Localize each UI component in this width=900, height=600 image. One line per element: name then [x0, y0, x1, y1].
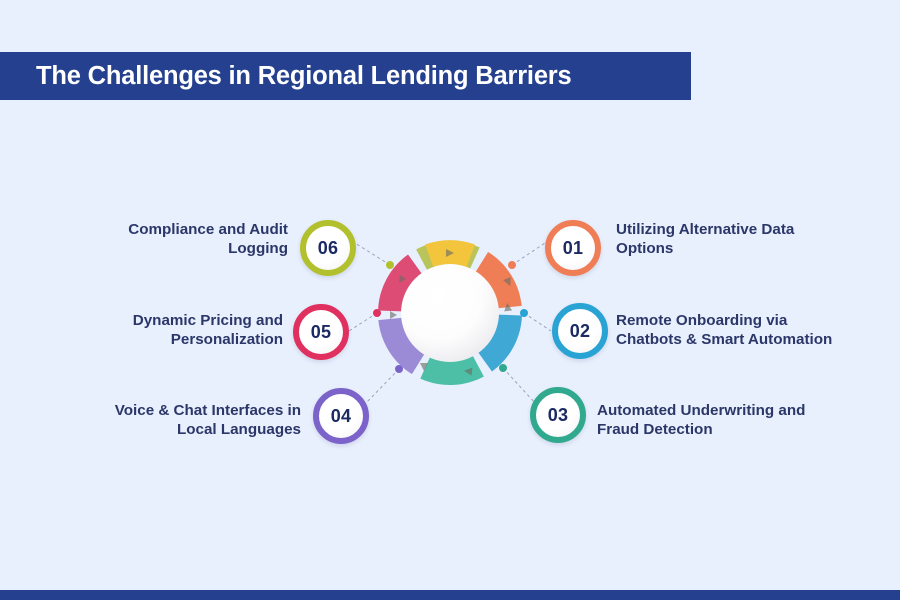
step-label-02: Remote Onboarding via Chatbots & Smart A… [616, 311, 886, 349]
step-circle-02[interactable]: 02 [552, 303, 608, 359]
step-number-06: 06 [318, 238, 339, 259]
step-number-04: 04 [331, 406, 352, 427]
connector-line-04 [365, 369, 399, 404]
step-label-06-line1: Compliance and Audit [35, 220, 288, 239]
step-label-01-line1: Utilizing Alternative Data [616, 220, 881, 239]
connector-dot-03 [499, 364, 507, 372]
step-circle-04[interactable]: 04 [313, 388, 369, 444]
footer-bar [0, 590, 900, 600]
step-circle-03[interactable]: 03 [530, 387, 586, 443]
step-label-04: Voice & Chat Interfaces in Local Languag… [48, 401, 301, 439]
connector-line-06 [355, 243, 390, 265]
connector-dot-06 [386, 261, 394, 269]
diagram-graphics [0, 0, 900, 600]
step-label-04-line1: Voice & Chat Interfaces in [48, 401, 301, 420]
step-label-03-line2: Fraud Detection [597, 420, 867, 439]
step-label-06-line2: Logging [35, 239, 288, 258]
connector-line-02 [524, 313, 551, 331]
step-number-03: 03 [548, 405, 569, 426]
step-label-06: Compliance and Audit Logging [35, 220, 288, 258]
step-number-02: 02 [570, 321, 591, 342]
arrow-icon-05 [390, 311, 397, 319]
step-circle-06[interactable]: 06 [300, 220, 356, 276]
step-label-02-line1: Remote Onboarding via [616, 311, 886, 330]
donut-hub [401, 264, 499, 362]
step-label-05: Dynamic Pricing and Personalization [30, 311, 283, 349]
step-label-04-line2: Local Languages [48, 420, 301, 439]
step-label-01-line2: Options [616, 239, 881, 258]
step-label-03: Automated Underwriting and Fraud Detecti… [597, 401, 867, 439]
donut-chart [367, 230, 532, 395]
step-label-01: Utilizing Alternative Data Options [616, 220, 881, 258]
step-label-05-line1: Dynamic Pricing and [30, 311, 283, 330]
step-circle-05[interactable]: 05 [293, 304, 349, 360]
step-number-05: 05 [311, 322, 332, 343]
connector-line-03 [503, 368, 536, 404]
connector-dot-01 [508, 261, 516, 269]
step-circle-01[interactable]: 01 [545, 220, 601, 276]
step-label-02-line2: Chatbots & Smart Automation [616, 330, 886, 349]
connector-line-01 [512, 243, 545, 265]
infographic-canvas: The Challenges in Regional Lending Barri… [0, 0, 900, 600]
connector-line-05 [349, 313, 377, 331]
step-label-05-line2: Personalization [30, 330, 283, 349]
step-label-03-line1: Automated Underwriting and [597, 401, 867, 420]
step-number-01: 01 [563, 238, 584, 259]
